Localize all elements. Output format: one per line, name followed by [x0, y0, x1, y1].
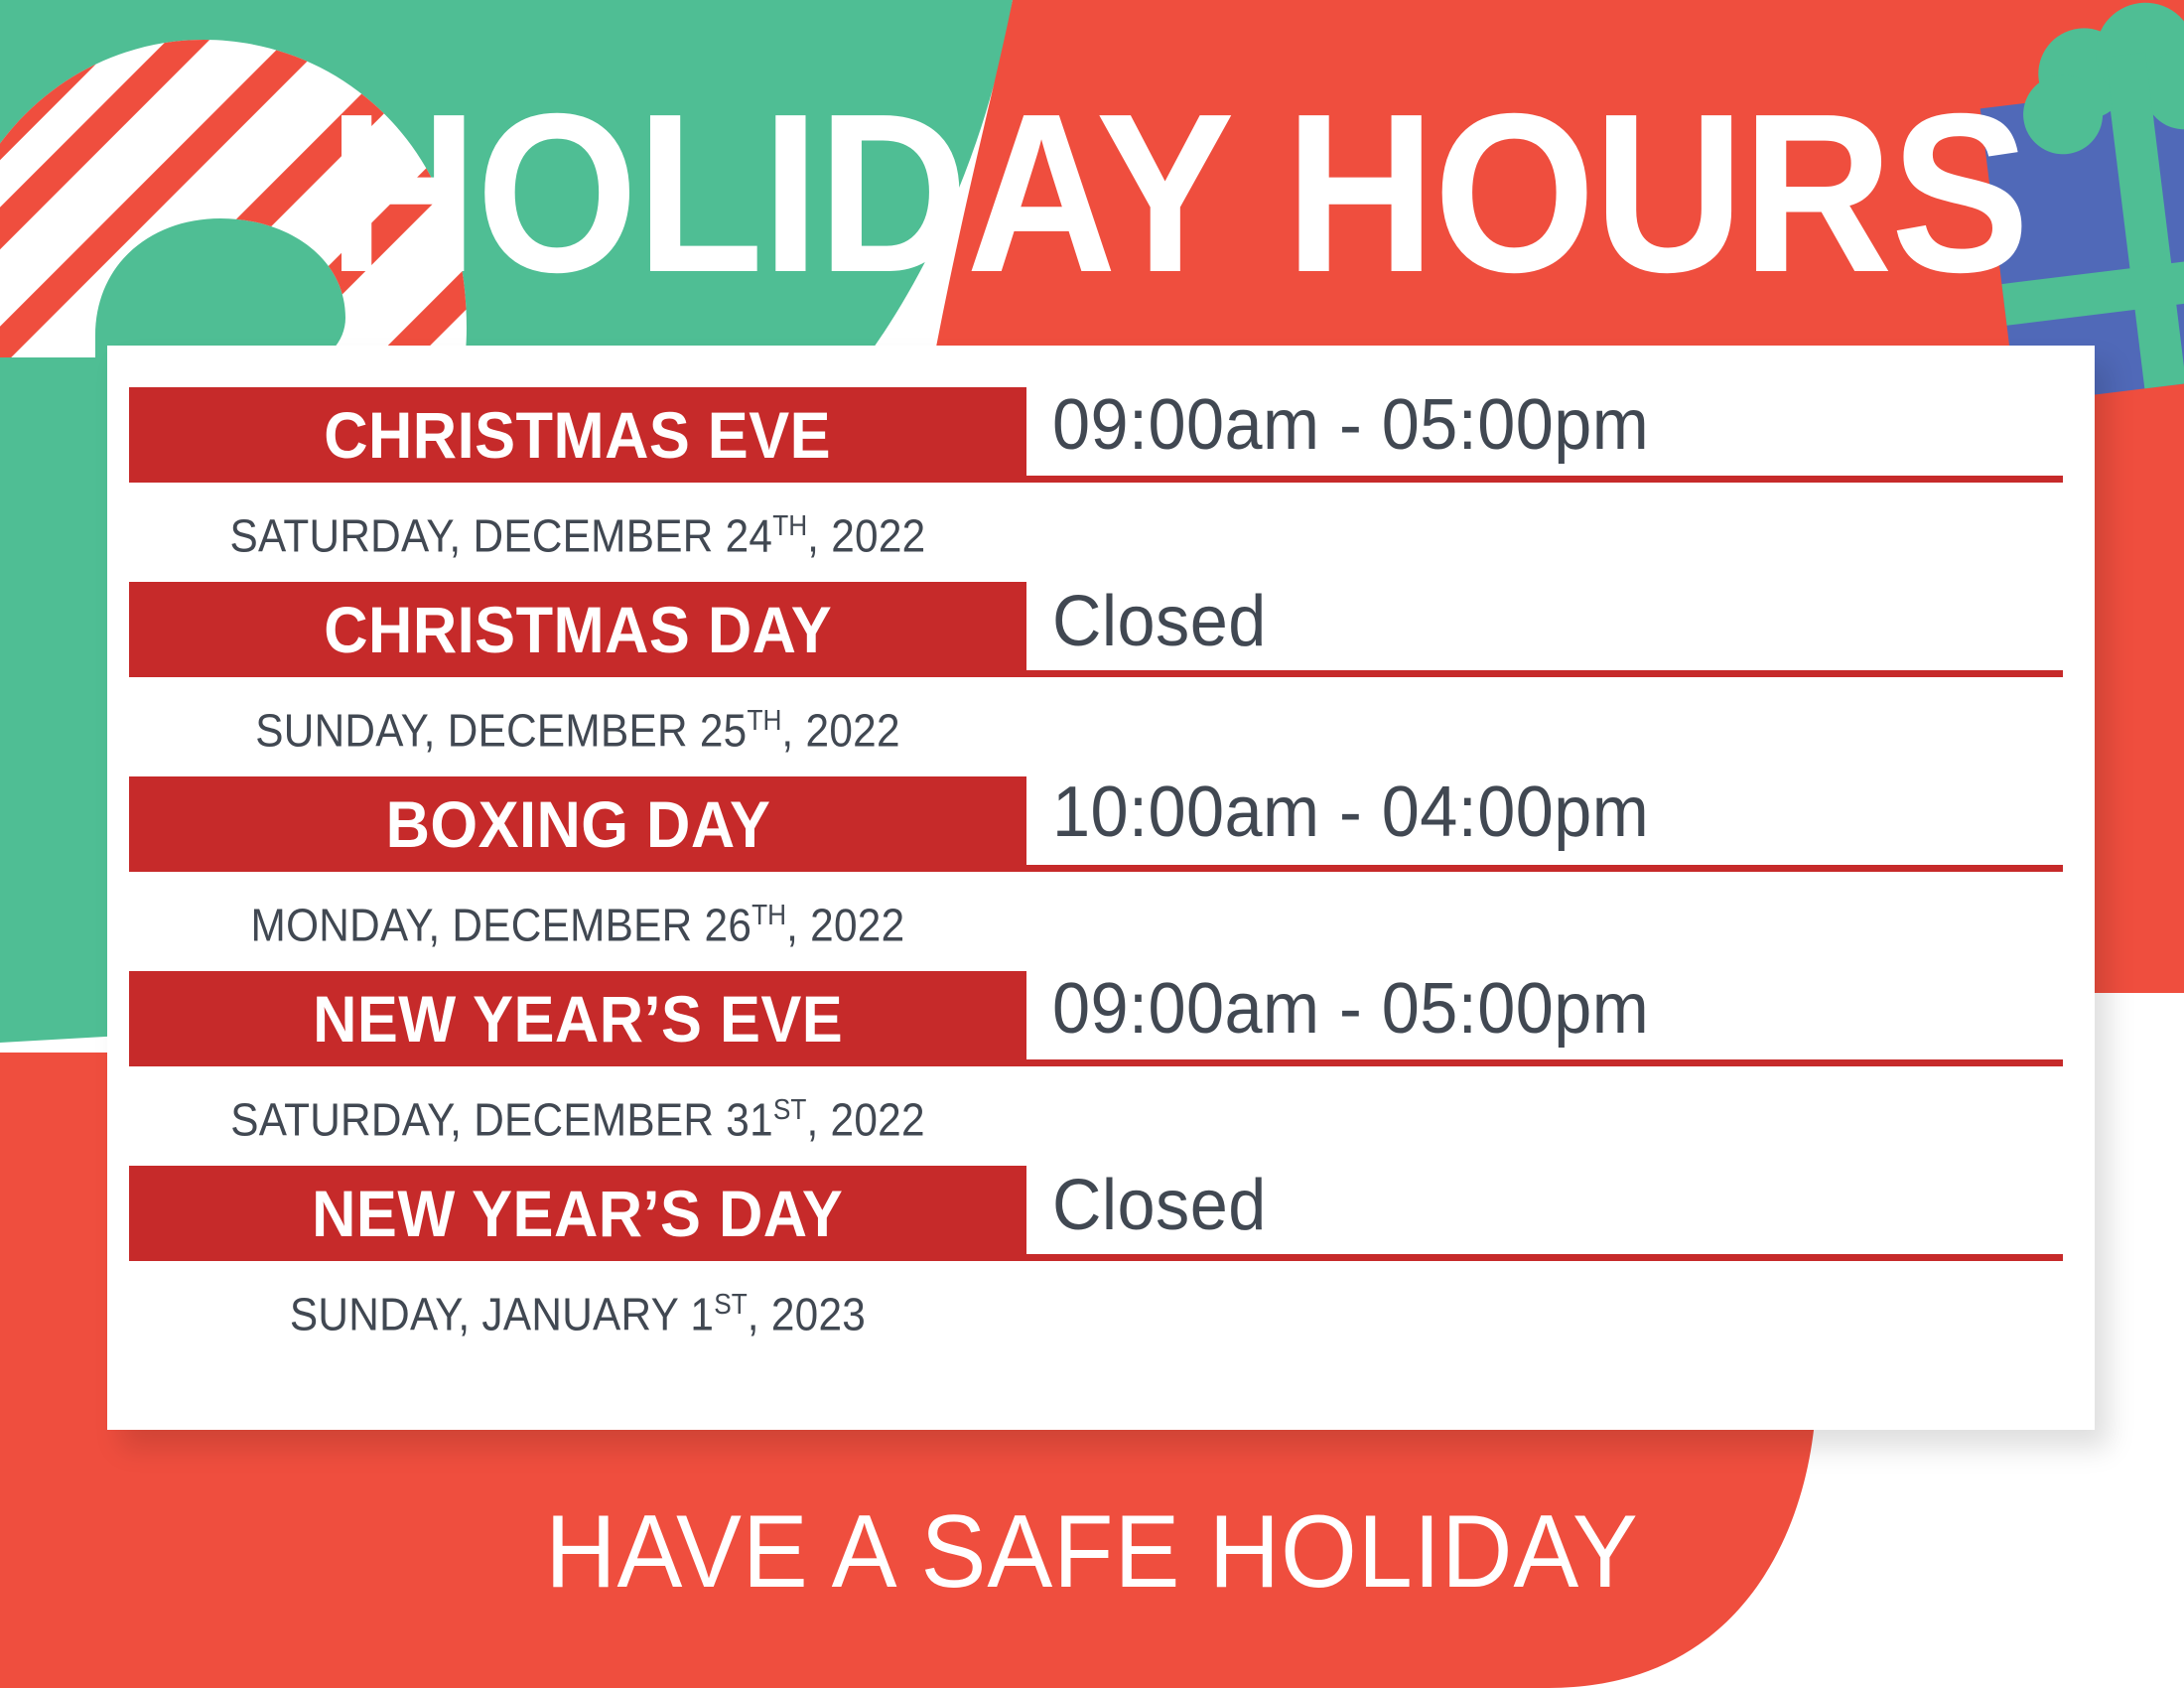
holiday-hours: 09:00am - 05:00pm — [1052, 387, 1649, 463]
poster-canvas: HOLIDAY HOURS CHRISTMAS EVE SATURDAY, DE… — [0, 0, 2184, 1688]
holiday-date: MONDAY, DECEMBER 26TH, 2022 — [165, 890, 991, 950]
holiday-name: CHRISTMAS DAY — [324, 597, 832, 662]
hours-card: CHRISTMAS EVE SATURDAY, DECEMBER 24TH, 2… — [107, 346, 2095, 1430]
holiday-date-prefix: SUNDAY, JANUARY 1 — [290, 1288, 714, 1339]
row-divider-rule — [1026, 1254, 2063, 1261]
holiday-date-suffix: , 2022 — [781, 704, 899, 756]
footer-message: HAVE A SAFE HOLIDAY — [55, 1494, 2129, 1610]
holiday-name-chip: BOXING DAY — [129, 776, 1026, 872]
holiday-date-ordinal: TH — [751, 900, 786, 931]
holiday-date-suffix: , 2022 — [807, 509, 925, 561]
holiday-hours: Closed — [1052, 1168, 1267, 1243]
holiday-hours: 09:00am - 05:00pm — [1052, 971, 1649, 1047]
holiday-hours: 10:00am - 04:00pm — [1052, 774, 1649, 850]
holiday-name-chip: CHRISTMAS DAY — [129, 582, 1026, 677]
holiday-name: NEW YEAR’S DAY — [312, 1181, 843, 1246]
holiday-date-prefix: MONDAY, DECEMBER 26 — [251, 899, 752, 950]
holiday-date-prefix: SUNDAY, DECEMBER 25 — [255, 704, 747, 756]
holiday-date-ordinal: ST — [773, 1094, 807, 1126]
holiday-date-suffix: , 2022 — [806, 1093, 924, 1145]
holiday-date: SUNDAY, JANUARY 1ST, 2023 — [165, 1279, 991, 1339]
holiday-date: SATURDAY, DECEMBER 31ST, 2022 — [165, 1084, 991, 1145]
holiday-date-prefix: SATURDAY, DECEMBER 24 — [229, 509, 772, 561]
holiday-date-ordinal: TH — [747, 705, 781, 737]
holiday-name: NEW YEAR’S EVE — [313, 986, 843, 1052]
row-divider-rule — [1026, 865, 2063, 872]
holiday-hours: Closed — [1052, 584, 1267, 659]
hours-table: CHRISTMAS EVE SATURDAY, DECEMBER 24TH, 2… — [107, 346, 2095, 1430]
holiday-name: CHRISTMAS EVE — [325, 402, 832, 468]
holiday-date-suffix: , 2022 — [786, 899, 904, 950]
page-title: HOLIDAY HOURS — [328, 87, 1807, 301]
row-divider-rule — [1026, 670, 2063, 677]
holiday-name: BOXING DAY — [385, 791, 770, 857]
holiday-date: SATURDAY, DECEMBER 24TH, 2022 — [165, 500, 991, 561]
holiday-name-chip: NEW YEAR’S DAY — [129, 1166, 1026, 1261]
holiday-date: SUNDAY, DECEMBER 25TH, 2022 — [165, 695, 991, 756]
holiday-name-chip: NEW YEAR’S EVE — [129, 971, 1026, 1066]
row-divider-rule — [1026, 476, 2063, 483]
holiday-name-chip: CHRISTMAS EVE — [129, 387, 1026, 483]
holiday-date-ordinal: TH — [772, 510, 807, 542]
holiday-date-ordinal: ST — [714, 1289, 748, 1321]
row-divider-rule — [1026, 1059, 2063, 1066]
holiday-date-prefix: SATURDAY, DECEMBER 31 — [230, 1093, 773, 1145]
holiday-date-suffix: , 2023 — [748, 1288, 866, 1339]
